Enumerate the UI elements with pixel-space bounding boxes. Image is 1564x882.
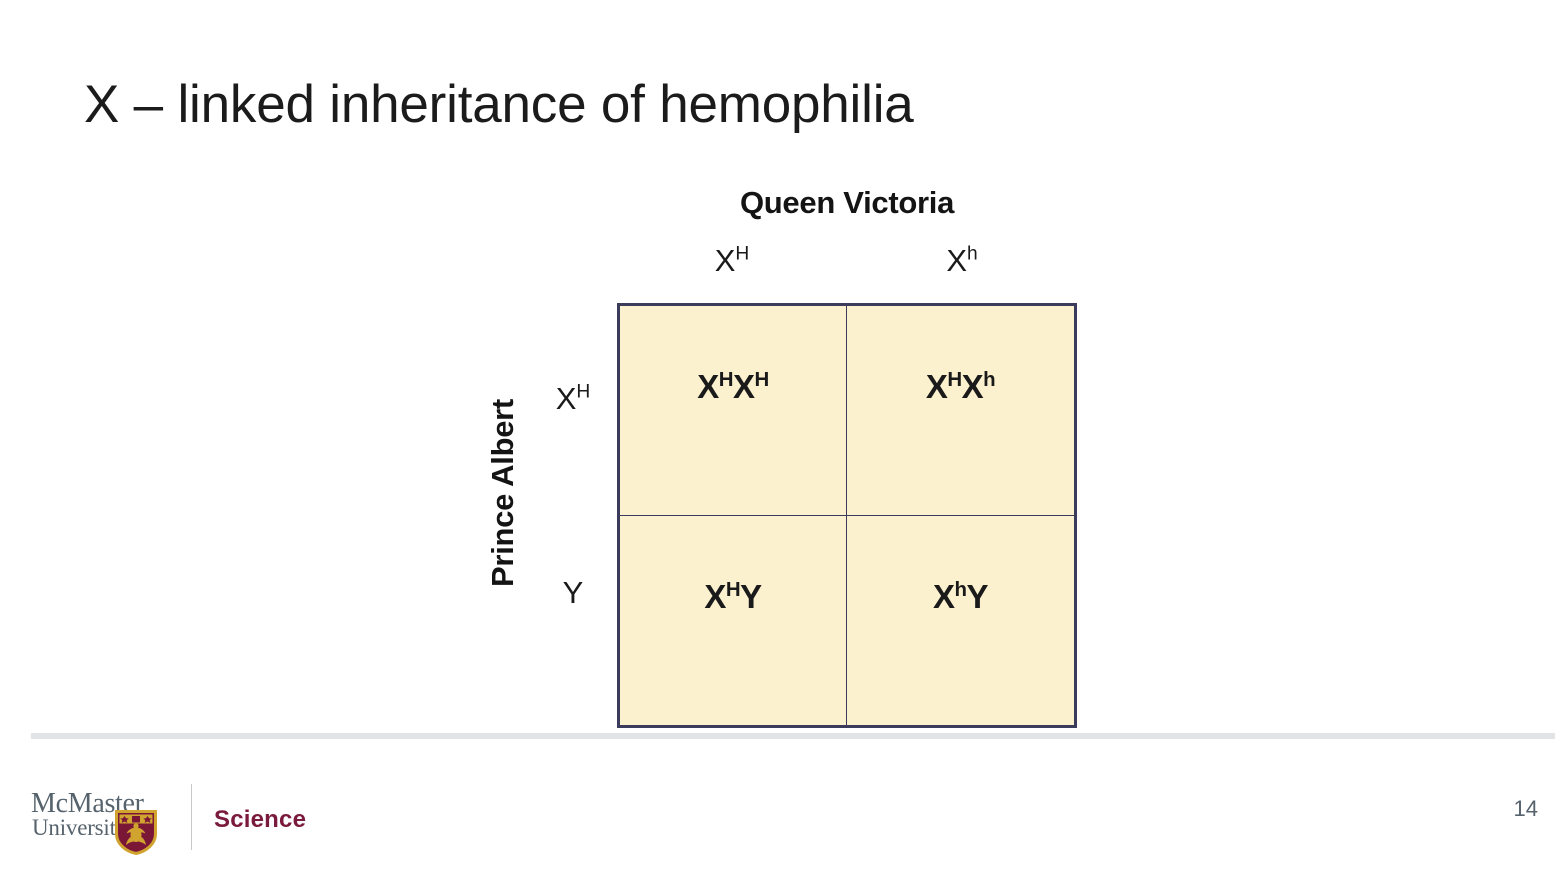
side-parent-label: Prince Albert bbox=[485, 368, 521, 618]
cell-1-0-allele2: Y bbox=[740, 578, 762, 615]
column-header-1-base: X bbox=[946, 243, 967, 278]
mcmaster-logo: McMaster University bbox=[31, 790, 161, 852]
cell-0-0-allele1-sup: H bbox=[719, 368, 733, 391]
row-header-0-base: X bbox=[556, 381, 577, 416]
punnett-square-diagram: Queen Victoria Prince Albert XH Xh XH Y … bbox=[470, 175, 1090, 735]
column-header-0-base: X bbox=[715, 243, 736, 278]
mcmaster-crest-icon bbox=[115, 810, 157, 855]
row-header-1: Y bbox=[530, 575, 616, 611]
column-header-0: XH bbox=[617, 243, 847, 293]
punnett-grid: XHXH XHXh XHY XhY bbox=[617, 303, 1077, 728]
cell-0-1-allele2: X bbox=[962, 368, 984, 405]
row-header-0-sup: H bbox=[576, 382, 590, 403]
page-number: 14 bbox=[1514, 796, 1538, 822]
row-header-0: XH bbox=[530, 381, 616, 417]
punnett-cell-0-0-text: XHXH bbox=[620, 368, 846, 406]
footer-vertical-divider bbox=[191, 784, 192, 850]
punnett-cell-1-0: XHY bbox=[620, 516, 847, 726]
punnett-cell-0-0: XHXH bbox=[620, 306, 847, 516]
cell-1-1-allele1-sup: h bbox=[955, 578, 967, 601]
punnett-cell-1-1-text: XhY bbox=[847, 578, 1074, 616]
cell-1-0-allele1-sup: H bbox=[726, 578, 740, 601]
page-title: X – linked inheritance of hemophilia bbox=[84, 76, 914, 134]
mcmaster-wordmark-line2: University bbox=[32, 816, 127, 839]
row-header-column: XH Y bbox=[530, 303, 616, 728]
punnett-cell-1-0-text: XHY bbox=[620, 578, 846, 616]
punnett-cell-0-1-text: XHXh bbox=[847, 368, 1074, 406]
top-parent-label: Queen Victoria bbox=[617, 185, 1077, 221]
footer-divider-rule bbox=[31, 733, 1555, 739]
cell-0-1-allele1: X bbox=[926, 368, 948, 405]
cell-0-1-allele2-sup: h bbox=[983, 368, 995, 391]
column-header-row: XH Xh bbox=[617, 243, 1077, 293]
cell-1-1-allele2: Y bbox=[966, 578, 988, 615]
cell-0-0-allele2-sup: H bbox=[755, 368, 769, 391]
row-header-1-base: Y bbox=[563, 575, 584, 610]
column-header-1: Xh bbox=[847, 243, 1077, 293]
column-header-0-sup: H bbox=[735, 244, 749, 265]
cell-1-0-allele1: X bbox=[704, 578, 726, 615]
cell-0-0-allele2: X bbox=[733, 368, 755, 405]
punnett-cell-0-1: XHXh bbox=[847, 306, 1074, 516]
punnett-cell-1-1: XhY bbox=[847, 516, 1074, 726]
faculty-label: Science bbox=[214, 806, 306, 834]
cell-0-0-allele1: X bbox=[697, 368, 719, 405]
cell-1-1-allele1: X bbox=[933, 578, 955, 615]
cell-0-1-allele1-sup: H bbox=[947, 368, 961, 391]
column-header-1-sup: h bbox=[967, 244, 978, 265]
